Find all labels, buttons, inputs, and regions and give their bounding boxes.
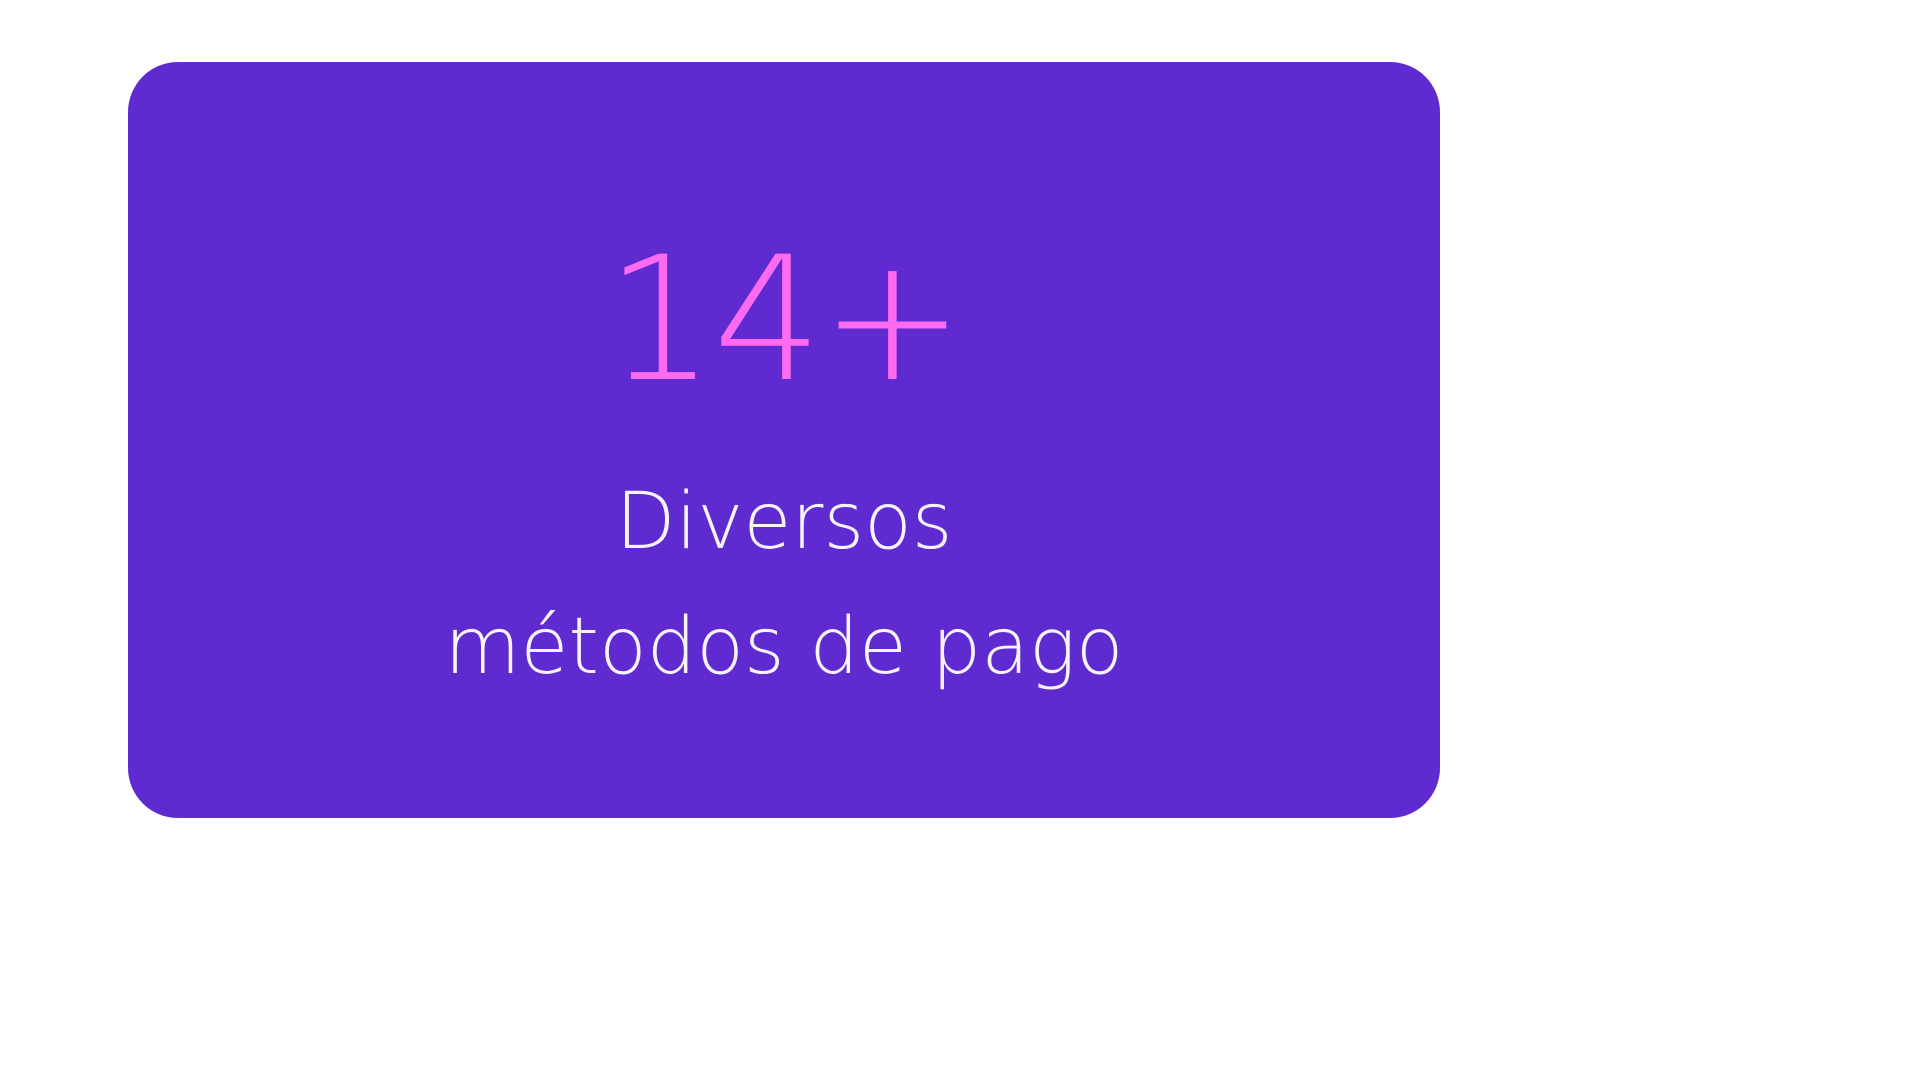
payment-methods-stat-card: 14+ Diversos métodos de pago	[128, 62, 1440, 818]
stat-caption: Diversos métodos de pago	[444, 460, 1123, 710]
stat-caption-line-1: Diversos	[444, 460, 1123, 585]
page-canvas: 14+ Diversos métodos de pago	[0, 0, 1920, 1080]
stat-caption-line-2: métodos de pago	[444, 585, 1123, 710]
stat-value: 14+	[606, 234, 963, 406]
